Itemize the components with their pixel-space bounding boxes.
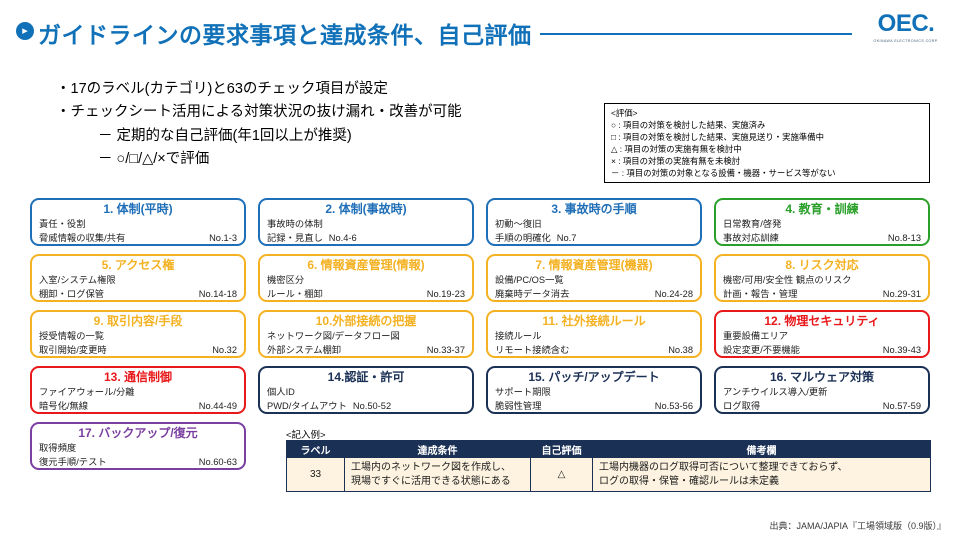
card-detail-text: 機密区分 [267, 273, 304, 287]
card-item-range: No.39-43 [875, 343, 921, 357]
card-detail-text: 棚卸・ログ保管 [39, 287, 104, 301]
cell-selfeval: △ [531, 458, 593, 492]
summary-bullets: ・17のラベル(カテゴリ)と63のチェック項目が設定 ・チェックシート活用による… [56, 78, 462, 172]
category-card-5[interactable]: 5. アクセス権入室/システム権限棚卸・ログ保管No.14-18 [30, 254, 246, 302]
card-detail-text: 廃棄時データ消去 [495, 287, 569, 301]
source-footer: 出典：JAMA/JAPIA『工場領域版（0.9版）』 [769, 519, 946, 532]
card-title: 3. 事故時の手順 [495, 202, 693, 217]
category-card-16[interactable]: 16. マルウェア対策アンチウイルス導入/更新ログ取得No.57-59 [714, 366, 930, 414]
category-card-14[interactable]: 14.認証・許可個人IDPWD/タイムアウトNo.50-52 [258, 366, 474, 414]
legend-title: <評価> [611, 108, 923, 120]
card-detail-text: ファイアウォール/分離 [39, 385, 135, 399]
card-detail-line: ルール・棚卸No.19-23 [267, 287, 465, 301]
card-detail-line: 入室/システム権限 [39, 273, 237, 287]
bullet-item: ・17のラベル(カテゴリ)と63のチェック項目が設定 [56, 78, 462, 101]
card-detail-text: アンチウイルス導入/更新 [723, 385, 827, 399]
card-item-range: No.50-52 [353, 399, 391, 413]
card-title: 13. 通信制御 [39, 370, 237, 385]
card-detail-line: 記録・見直しNo.4-6 [267, 231, 465, 245]
cell-remarks: 工場内機器のログ取得可否について整理できておらず、ログの取得・保管・確認ルールは… [593, 458, 931, 492]
card-title: 9. 取引内容/手段 [39, 314, 237, 329]
card-detail-text: ログ取得 [723, 399, 760, 413]
example-caption: <記入例> [286, 427, 326, 441]
card-detail-line: 機密/可用/安全性 観点のリスク [723, 273, 921, 287]
card-title: 4. 教育・訓練 [723, 202, 921, 217]
category-card-3[interactable]: 3. 事故時の手順初動～復旧手順の明確化No.7 [486, 198, 702, 246]
card-detail-line: 復元手順/テストNo.60-63 [39, 455, 237, 469]
category-card-7[interactable]: 7. 情報資産管理(機器)設備/PC/OS一覧廃棄時データ消去No.24-28 [486, 254, 702, 302]
card-detail-line: 接続ルール [495, 329, 693, 343]
card-detail-text: 入室/システム権限 [39, 273, 116, 287]
card-detail-line: PWD/タイムアウトNo.50-52 [267, 399, 465, 413]
legend-item: × : 項目の対策の実施有無を未検討 [611, 156, 923, 168]
evaluation-legend: <評価> ○ : 項目の対策を検討した結果、実施済み □ : 項目の対策を検討し… [604, 103, 930, 183]
category-card-1[interactable]: 1. 体制(平時)責任・役割脅威情報の収集/共有No.1-3 [30, 198, 246, 246]
category-card-17[interactable]: 17. バックアップ/復元取得頻度復元手順/テストNo.60-63 [30, 422, 246, 470]
page-title: ガイドラインの要求事項と達成条件、自己評価 [38, 16, 532, 50]
legend-item: △ : 項目の対策の実施有無を検討中 [611, 144, 923, 156]
table-row: 33 工場内のネットワーク図を作成し、現場ですぐに活用できる状態にある △ 工場… [287, 458, 931, 492]
card-detail-line: アンチウイルス導入/更新 [723, 385, 921, 399]
card-item-range: No.14-18 [191, 287, 237, 301]
card-detail-text: 機密/可用/安全性 観点のリスク [723, 273, 852, 287]
card-detail-text: 脆弱性管理 [495, 399, 542, 413]
card-detail-line: 初動～復旧 [495, 217, 693, 231]
card-detail-line: リモート接続含むNo.38 [495, 343, 693, 357]
card-detail-text: 設備/PC/OS一覧 [495, 273, 564, 287]
card-detail-line: ファイアウォール/分離 [39, 385, 237, 399]
category-card-2[interactable]: 2. 体制(事故時)事故時の体制記録・見直しNo.4-6 [258, 198, 474, 246]
card-detail-line: 取引開始/変更時No.32 [39, 343, 237, 357]
card-item-range: No.7 [557, 231, 577, 245]
card-item-range: No.24-28 [647, 287, 693, 301]
category-card-8[interactable]: 8. リスク対応機密/可用/安全性 観点のリスク計画・報告・管理No.29-31 [714, 254, 930, 302]
title-rule [540, 33, 852, 35]
card-detail-line: 責任・役割 [39, 217, 237, 231]
card-title: 6. 情報資産管理(情報) [267, 258, 465, 273]
card-item-range: No.53-56 [647, 399, 693, 413]
card-title: 7. 情報資産管理(機器) [495, 258, 693, 273]
card-detail-text: 暗号化/無線 [39, 399, 88, 413]
category-card-4[interactable]: 4. 教育・訓練日常教育/啓発事故対応訓練No.8-13 [714, 198, 930, 246]
example-table: ラベル 達成条件 自己評価 備考欄 33 工場内のネットワーク図を作成し、現場で… [286, 440, 931, 492]
card-title: 10.外部接続の把握 [267, 314, 465, 329]
card-detail-text: 個人ID [267, 385, 295, 399]
category-card-11[interactable]: 11. 社外接続ルール接続ルールリモート接続含むNo.38 [486, 310, 702, 358]
card-detail-line: 事故時の体制 [267, 217, 465, 231]
card-detail-line: 暗号化/無線No.44-49 [39, 399, 237, 413]
card-detail-line: 事故対応訓練No.8-13 [723, 231, 921, 245]
card-detail-line: 棚卸・ログ保管No.14-18 [39, 287, 237, 301]
card-title: 11. 社外接続ルール [495, 314, 693, 329]
card-item-range: No.60-63 [191, 455, 237, 469]
card-title: 1. 体制(平時) [39, 202, 237, 217]
card-detail-text: 重要設備エリア [723, 329, 788, 343]
card-item-range: No.32 [204, 343, 237, 357]
card-detail-line: 廃棄時データ消去No.24-28 [495, 287, 693, 301]
card-detail-text: 事故対応訓練 [723, 231, 779, 245]
card-detail-line: ネットワーク図/データフロー図 [267, 329, 465, 343]
card-detail-text: 取引開始/変更時 [39, 343, 107, 357]
card-detail-text: 初動～復旧 [495, 217, 542, 231]
column-header-label: ラベル [287, 441, 345, 458]
card-detail-line: 外部システム棚卸No.33-37 [267, 343, 465, 357]
legend-item: ○ : 項目の対策を検討した結果、実施済み [611, 120, 923, 132]
bullet-subitem: － 定期的な自己評価(年1回以上が推奨) [56, 125, 462, 148]
card-detail-line: 授受情報の一覧 [39, 329, 237, 343]
column-header-remarks: 備考欄 [593, 441, 931, 458]
card-detail-text: リモート接続含む [495, 343, 569, 357]
card-item-range: No.29-31 [875, 287, 921, 301]
card-title: 14.認証・許可 [267, 370, 465, 385]
category-card-12[interactable]: 12. 物理セキュリティ重要設備エリア設定変更/不要機能No.39-43 [714, 310, 930, 358]
card-detail-text: 外部システム棚卸 [267, 343, 341, 357]
card-detail-text: 責任・役割 [39, 217, 86, 231]
legend-item: □ : 項目の対策を検討した結果、実施見送り・実施準備中 [611, 132, 923, 144]
card-detail-text: 接続ルール [495, 329, 542, 343]
bullet-item: ・チェックシート活用による対策状況の抜け漏れ・改善が可能 [56, 101, 462, 124]
card-detail-line: 設備/PC/OS一覧 [495, 273, 693, 287]
card-detail-text: 脅威情報の収集/共有 [39, 231, 125, 245]
card-detail-line: 機密区分 [267, 273, 465, 287]
card-title: 16. マルウェア対策 [723, 370, 921, 385]
card-detail-text: ネットワーク図/データフロー図 [267, 329, 400, 343]
card-detail-line: 設定変更/不要機能No.39-43 [723, 343, 921, 357]
company-logo: OEC. OKINAWA ELECTRONICS CORP. [862, 12, 950, 43]
card-detail-text: ルール・棚卸 [267, 287, 323, 301]
cell-label: 33 [287, 458, 345, 492]
card-detail-line: 手順の明確化No.7 [495, 231, 693, 245]
category-card-13[interactable]: 13. 通信制御ファイアウォール/分離暗号化/無線No.44-49 [30, 366, 246, 414]
card-detail-text: 取得頻度 [39, 441, 76, 455]
table-header-row: ラベル 達成条件 自己評価 備考欄 [287, 441, 931, 458]
card-detail-line: ログ取得No.57-59 [723, 399, 921, 413]
card-detail-text: 日常教育/啓発 [723, 217, 781, 231]
card-detail-text: 手順の明確化 [495, 231, 551, 245]
card-detail-line: 脆弱性管理No.53-56 [495, 399, 693, 413]
page-header: ▸ ガイドラインの要求事項と達成条件、自己評価 OEC. OKINAWA ELE… [0, 0, 960, 60]
card-detail-text: 事故時の体制 [267, 217, 323, 231]
card-detail-line: 重要設備エリア [723, 329, 921, 343]
card-detail-line: サポート期限 [495, 385, 693, 399]
card-title: 8. リスク対応 [723, 258, 921, 273]
card-item-range: No.44-49 [191, 399, 237, 413]
card-item-range: No.19-23 [419, 287, 465, 301]
category-card-10[interactable]: 10.外部接続の把握ネットワーク図/データフロー図外部システム棚卸No.33-3… [258, 310, 474, 358]
card-detail-line: 計画・報告・管理No.29-31 [723, 287, 921, 301]
card-title: 12. 物理セキュリティ [723, 314, 921, 329]
card-detail-line: 日常教育/啓発 [723, 217, 921, 231]
logo-wordmark: OEC. [862, 12, 950, 36]
card-detail-text: 計画・報告・管理 [723, 287, 797, 301]
card-detail-text: PWD/タイムアウト [267, 399, 347, 413]
card-title: 15. パッチ/アップデート [495, 370, 693, 385]
bullet-subitem: － ○/□/△/×で評価 [56, 148, 462, 171]
card-item-range: No.1-3 [201, 231, 237, 245]
card-item-range: No.57-59 [875, 399, 921, 413]
card-detail-text: 授受情報の一覧 [39, 329, 104, 343]
category-card-15[interactable]: 15. パッチ/アップデートサポート期限脆弱性管理No.53-56 [486, 366, 702, 414]
card-detail-text: 記録・見直し [267, 231, 323, 245]
card-item-range: No.4-6 [329, 231, 357, 245]
card-detail-text: 復元手順/テスト [39, 455, 107, 469]
logo-tagline: OKINAWA ELECTRONICS CORP. [862, 39, 950, 43]
card-detail-line: 取得頻度 [39, 441, 237, 455]
card-detail-line: 脅威情報の収集/共有No.1-3 [39, 231, 237, 245]
column-header-selfeval: 自己評価 [531, 441, 593, 458]
card-detail-text: 設定変更/不要機能 [723, 343, 800, 357]
cell-condition: 工場内のネットワーク図を作成し、現場ですぐに活用できる状態にある [345, 458, 531, 492]
card-detail-line: 個人ID [267, 385, 465, 399]
category-card-9[interactable]: 9. 取引内容/手段授受情報の一覧取引開始/変更時No.32 [30, 310, 246, 358]
card-item-range: No.38 [660, 343, 693, 357]
chevron-right-icon: ▸ [16, 22, 34, 40]
card-title: 2. 体制(事故時) [267, 202, 465, 217]
card-detail-text: サポート期限 [495, 385, 551, 399]
category-card-6[interactable]: 6. 情報資産管理(情報)機密区分ルール・棚卸No.19-23 [258, 254, 474, 302]
card-title: 17. バックアップ/復元 [39, 426, 237, 441]
column-header-condition: 達成条件 [345, 441, 531, 458]
card-item-range: No.8-13 [880, 231, 921, 245]
card-item-range: No.33-37 [419, 343, 465, 357]
legend-item: － : 項目の対策の対象となる設備・機器・サービス等がない [611, 168, 923, 180]
card-title: 5. アクセス権 [39, 258, 237, 273]
